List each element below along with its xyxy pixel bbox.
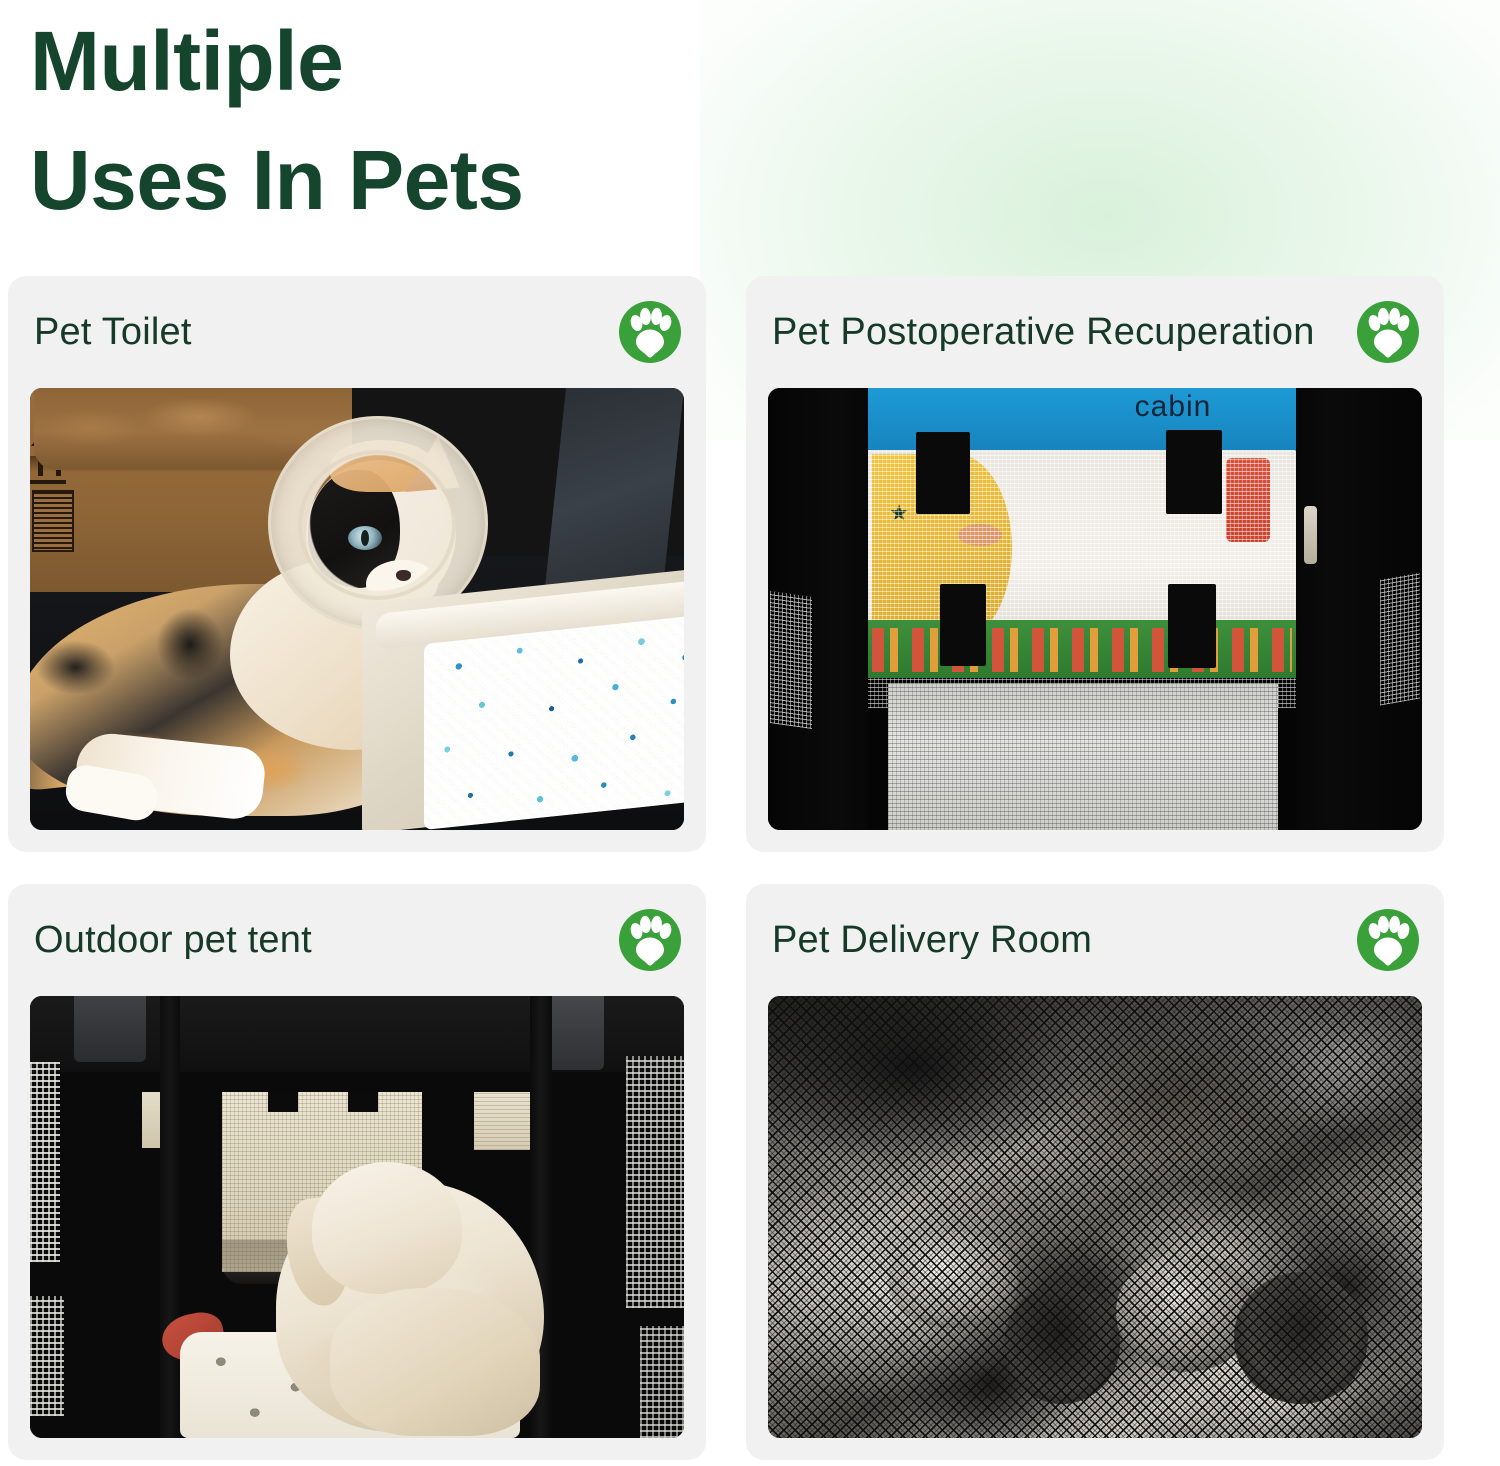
card-header: Pet Postoperative Recuperation xyxy=(746,276,1444,388)
paw-icon xyxy=(1356,300,1420,364)
use-case-card-grid: Pet Toilet xyxy=(8,276,1492,1460)
use-case-card-pet-toilet[interactable]: Pet Toilet xyxy=(8,276,706,852)
card-photo-pet-delivery-room xyxy=(768,996,1422,1438)
page-root: Multiple Uses In Pets Pet Toilet xyxy=(0,0,1500,1466)
card-header: Pet Toilet xyxy=(8,276,706,388)
card-title: Pet Delivery Room xyxy=(772,921,1092,959)
card-header: Outdoor pet tent xyxy=(8,884,706,996)
card-photo-pet-postoperative-recuperation: cabin xyxy=(768,388,1422,830)
card-title: Outdoor pet tent xyxy=(34,921,312,959)
card-title: Pet Postoperative Recuperation xyxy=(772,313,1315,351)
paw-icon xyxy=(1356,908,1420,972)
card-photo-pet-toilet xyxy=(30,388,684,830)
card-photo-outdoor-pet-tent xyxy=(30,996,684,1438)
use-case-card-pet-postoperative-recuperation[interactable]: Pet Postoperative Recuperation cabin xyxy=(746,276,1444,852)
use-case-card-outdoor-pet-tent[interactable]: Outdoor pet tent xyxy=(8,884,706,1460)
card-header: Pet Delivery Room xyxy=(746,884,1444,996)
card-title: Pet Toilet xyxy=(34,313,192,351)
use-case-card-pet-delivery-room[interactable]: Pet Delivery Room xyxy=(746,884,1444,1460)
paw-icon xyxy=(618,908,682,972)
paw-icon xyxy=(618,300,682,364)
page-title: Multiple Uses In Pets xyxy=(30,2,790,241)
carrier-brand-label: cabin xyxy=(1088,390,1258,424)
